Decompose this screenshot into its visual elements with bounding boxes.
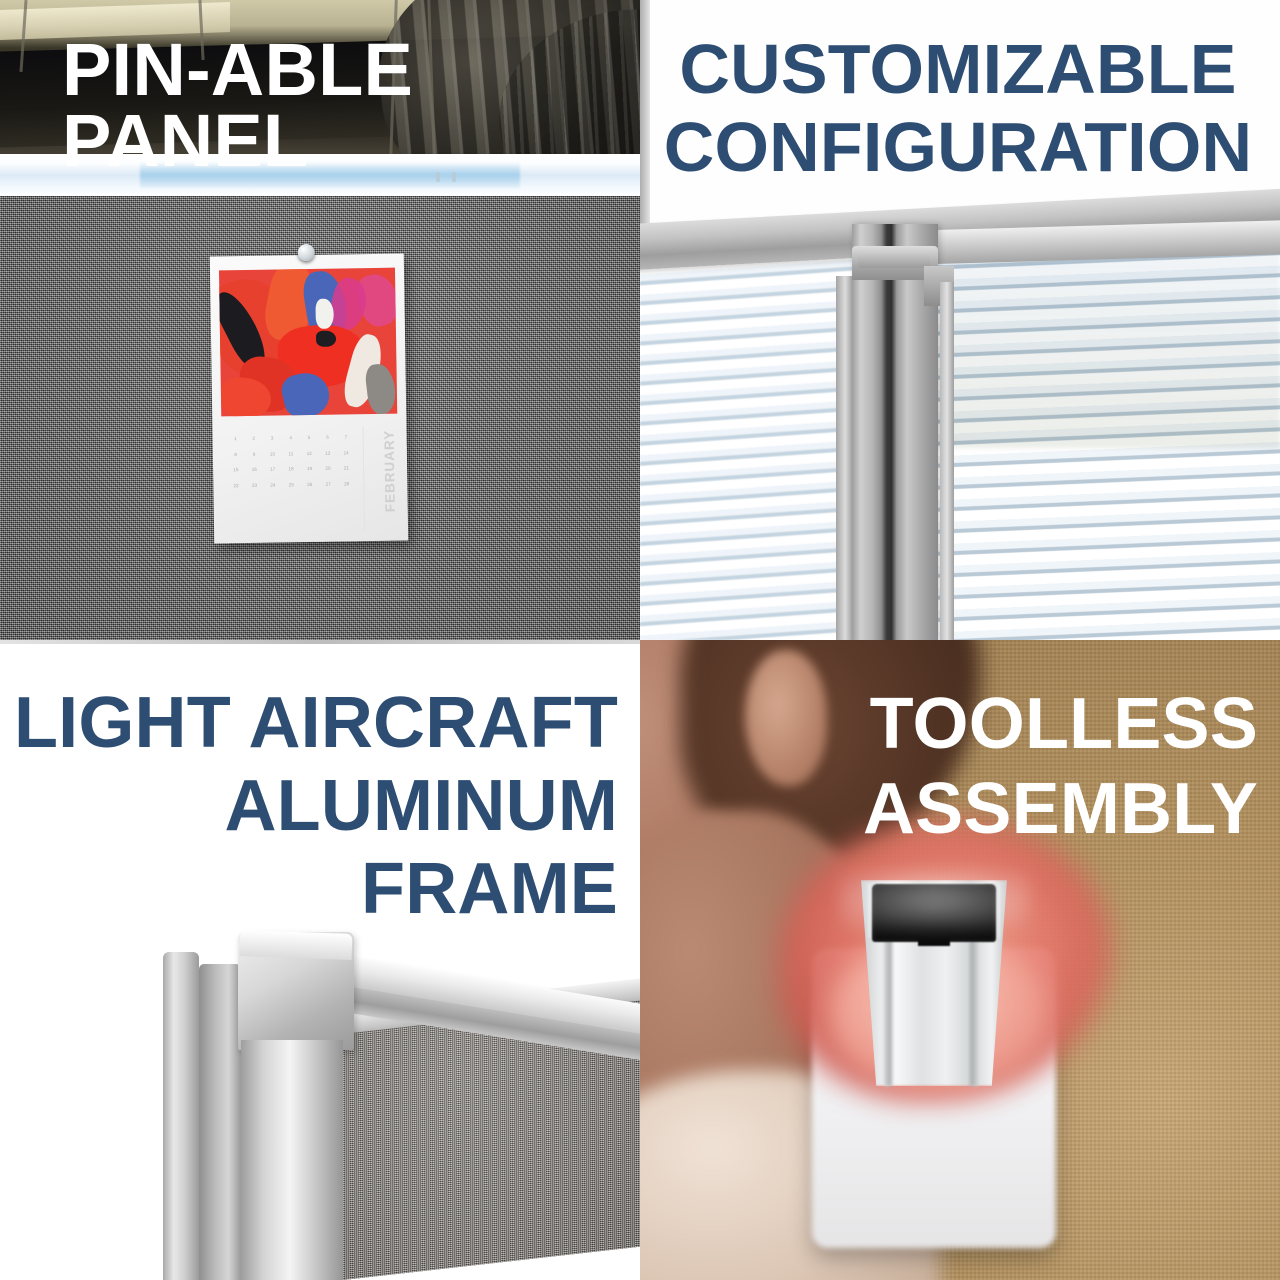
quadrant-customizable-configuration: CUSTOMIZABLE CONFIGURATION	[640, 0, 1280, 640]
quadrant-aluminum-frame: LIGHT AIRCRAFT ALUMINUM FRAME	[0, 640, 640, 1280]
extrusion-rib-left	[884, 940, 892, 1086]
panel-vertical-rail-right	[940, 282, 954, 640]
calendar-date-grid: 1234567 891011121314 15161718192021 2223…	[227, 430, 356, 524]
aluminum-post-middle	[199, 964, 241, 1280]
push-pin-icon	[298, 244, 315, 261]
aluminum-post-rear	[163, 952, 199, 1280]
quadrant-toolless-assembly: TOOLLESS ASSEMBLY	[640, 640, 1280, 1280]
quadrant-pin-able-panel: 1234567 891011121314 15161718192021 2223…	[0, 0, 640, 640]
feature-collage: 1234567 891011121314 15161718192021 2223…	[0, 0, 1280, 1280]
caption-customizable-configuration: CUSTOMIZABLE CONFIGURATION	[658, 30, 1258, 187]
aluminum-post-front	[241, 1040, 343, 1280]
extrusion-rib-right	[970, 940, 978, 1086]
extrusion-notch	[918, 928, 950, 946]
pinned-calendar: 1234567 891011121314 15161718192021 2223…	[210, 253, 408, 543]
aluminum-corner-cap	[240, 930, 353, 960]
panel-left-edge	[640, 0, 650, 230]
calendar-month-label: FEBRUARY	[382, 430, 398, 513]
highlight-glow	[840, 870, 1030, 930]
caption-toolless-assembly: TOOLLESS ASSEMBLY	[650, 682, 1258, 852]
caption-pin-able-panel: PIN-ABLE PANEL	[62, 34, 640, 176]
post-cap-inner	[858, 254, 930, 268]
window-blinds-left	[640, 250, 866, 640]
caption-light-aircraft-aluminum-frame: LIGHT AIRCRAFT ALUMINUM FRAME	[10, 682, 618, 930]
calendar-artwork	[219, 268, 397, 417]
calendar-divider	[362, 426, 365, 532]
window-view-outside	[928, 248, 1280, 448]
quadrant-top-divider	[0, 640, 640, 644]
